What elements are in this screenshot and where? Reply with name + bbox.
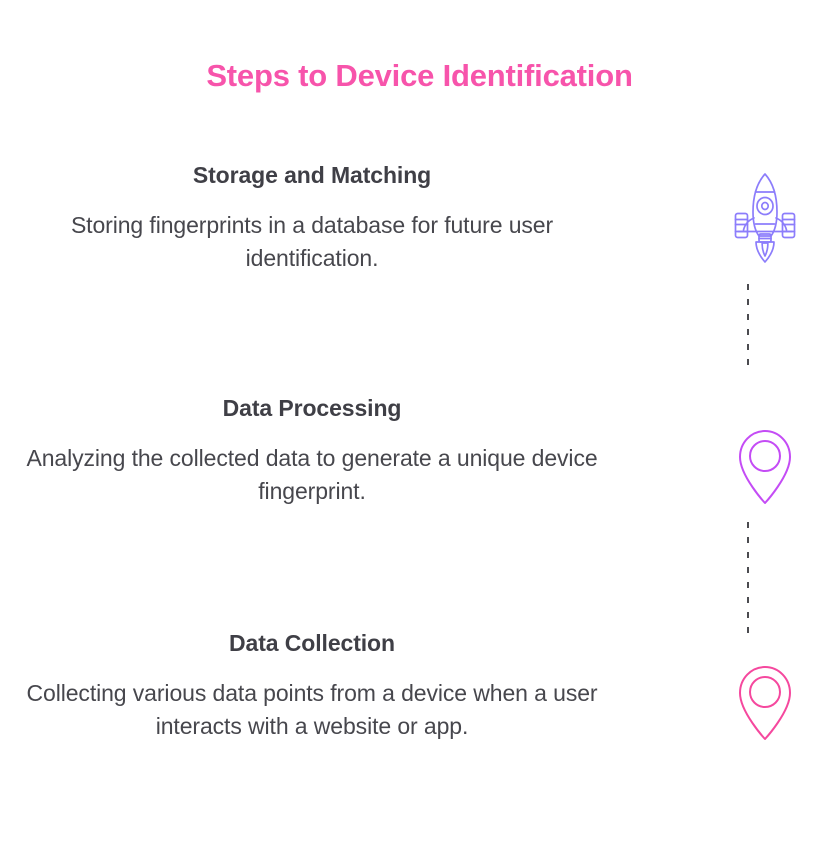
step-heading: Data Collection	[2, 630, 622, 657]
step-body: Analyzing the collected data to generate…	[2, 442, 622, 507]
infographic-page: Steps to Device Identification Storage a…	[0, 0, 839, 866]
map-pin-icon	[690, 424, 839, 506]
timeline-connector	[747, 522, 749, 635]
map-pin-icon	[690, 660, 839, 742]
timeline-rail	[690, 0, 839, 866]
rocket-icon	[690, 168, 839, 264]
step-body: Storing fingerprints in a database for f…	[2, 209, 622, 274]
step-item-data-collection: Data Collection Collecting various data …	[2, 630, 622, 742]
step-heading: Data Processing	[2, 395, 622, 422]
timeline-connector	[747, 284, 749, 366]
step-heading: Storage and Matching	[2, 162, 622, 189]
step-item-storage-and-matching: Storage and Matching Storing fingerprint…	[2, 162, 622, 274]
map-pin-icon-glyph	[733, 660, 797, 742]
rocket-icon-glyph	[729, 168, 801, 264]
steps-text-column: Storage and Matching Storing fingerprint…	[0, 0, 640, 866]
step-item-data-processing: Data Processing Analyzing the collected …	[2, 395, 622, 507]
map-pin-icon-glyph	[733, 424, 797, 506]
step-body: Collecting various data points from a de…	[2, 677, 622, 742]
